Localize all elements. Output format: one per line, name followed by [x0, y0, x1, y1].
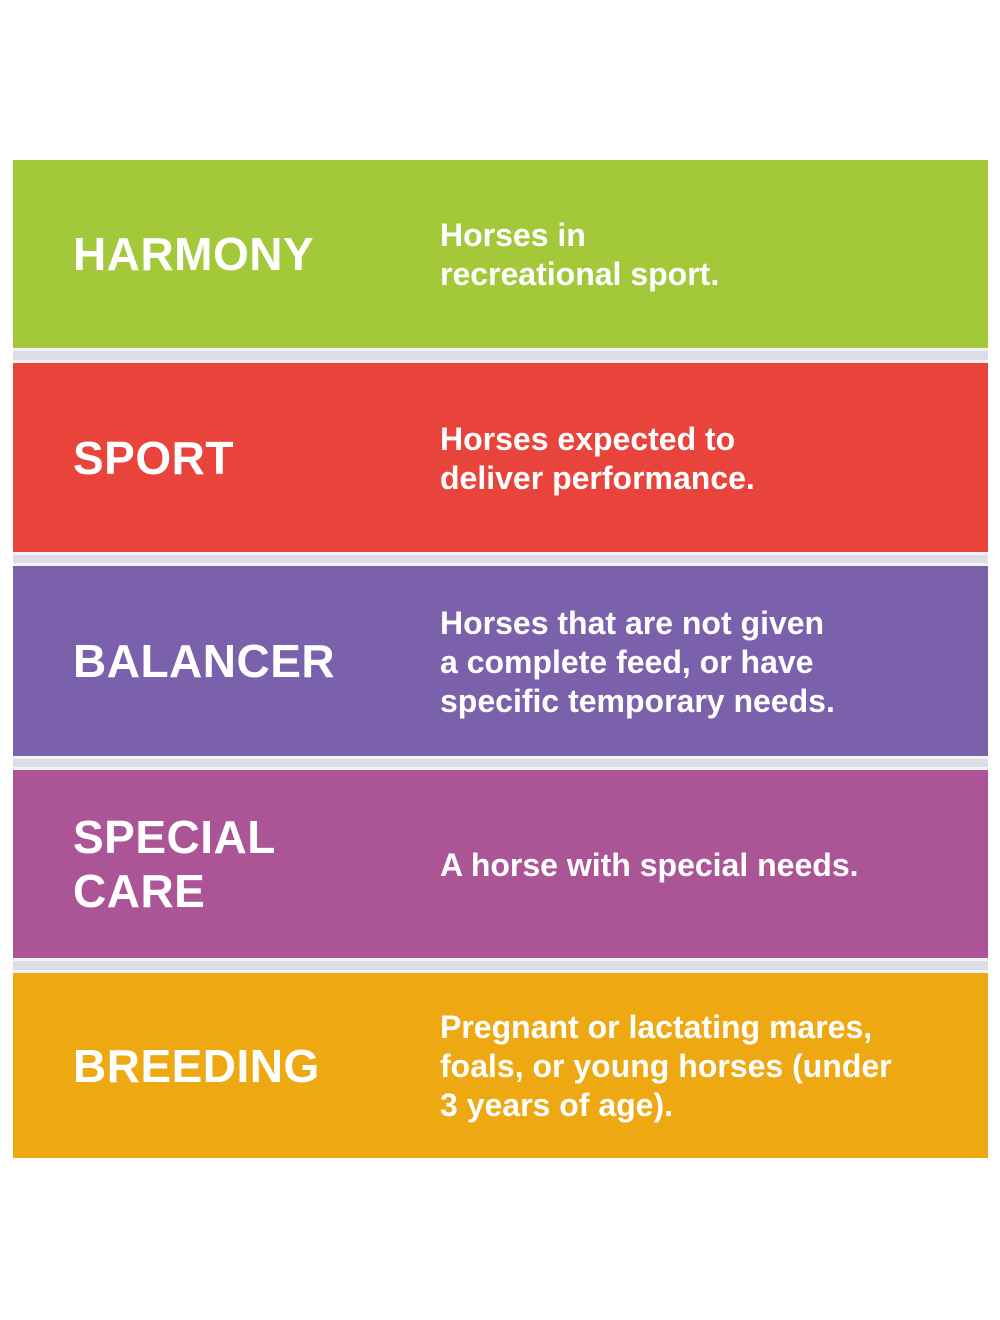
category-description-sport: Horses expected to deliver performance.	[440, 418, 988, 498]
band-separator-3	[13, 756, 988, 770]
category-description-breeding: Pregnant or lactating mares, foals, or y…	[440, 1006, 988, 1125]
category-band-breeding[interactable]: BREEDING Pregnant or lactating mares, fo…	[13, 973, 988, 1158]
category-title-harmony: HARMONY	[13, 229, 440, 279]
category-description-harmony: Horses in recreational sport.	[440, 214, 988, 294]
category-description-special-care: A horse with special needs.	[440, 844, 988, 885]
category-title-balancer: BALANCER	[13, 636, 440, 686]
category-description-balancer: Horses that are not given a complete fee…	[440, 602, 988, 721]
category-band-balancer[interactable]: BALANCER Horses that are not given a com…	[13, 566, 988, 756]
band-separator-4	[13, 958, 988, 973]
feed-category-infographic: HARMONY Horses in recreational sport. SP…	[0, 0, 1000, 1320]
band-separator-2	[13, 552, 988, 566]
category-band-harmony[interactable]: HARMONY Horses in recreational sport.	[13, 160, 988, 348]
category-band-sport[interactable]: SPORT Horses expected to deliver perform…	[13, 363, 988, 552]
category-band-stack: HARMONY Horses in recreational sport. SP…	[13, 160, 988, 1158]
category-title-sport: SPORT	[13, 433, 440, 483]
category-title-breeding: BREEDING	[13, 1041, 440, 1091]
category-band-special-care[interactable]: SPECIAL CARE A horse with special needs.	[13, 770, 988, 958]
category-title-special-care: SPECIAL CARE	[13, 810, 440, 918]
band-separator-1	[13, 348, 988, 363]
